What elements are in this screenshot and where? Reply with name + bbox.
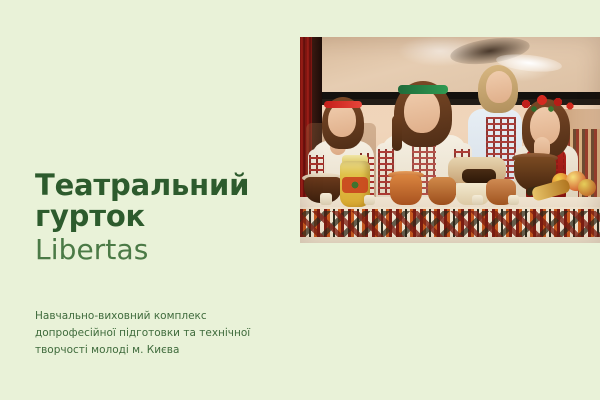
subtitle-line-2: допрофесійної підготовки та технічної — [35, 325, 265, 342]
slide-canvas: Театральний гурток Libertas Навчально-ви… — [0, 0, 600, 400]
page-title-line-1: Театральний — [35, 170, 280, 201]
page-title-line-2: гурток — [35, 201, 280, 232]
photo-ukrainian-folk-performance — [300, 37, 600, 243]
title-block: Театральний гурток Libertas — [35, 170, 280, 267]
photo-vignette — [300, 37, 600, 243]
organization-subtitle: Навчально-виховний комплекс допрофесійно… — [35, 308, 265, 359]
subtitle-line-1: Навчально-виховний комплекс — [35, 308, 265, 325]
subtitle-line-3: творчості молоді м. Києва — [35, 342, 265, 359]
page-title-subname: Libertas — [35, 233, 280, 267]
